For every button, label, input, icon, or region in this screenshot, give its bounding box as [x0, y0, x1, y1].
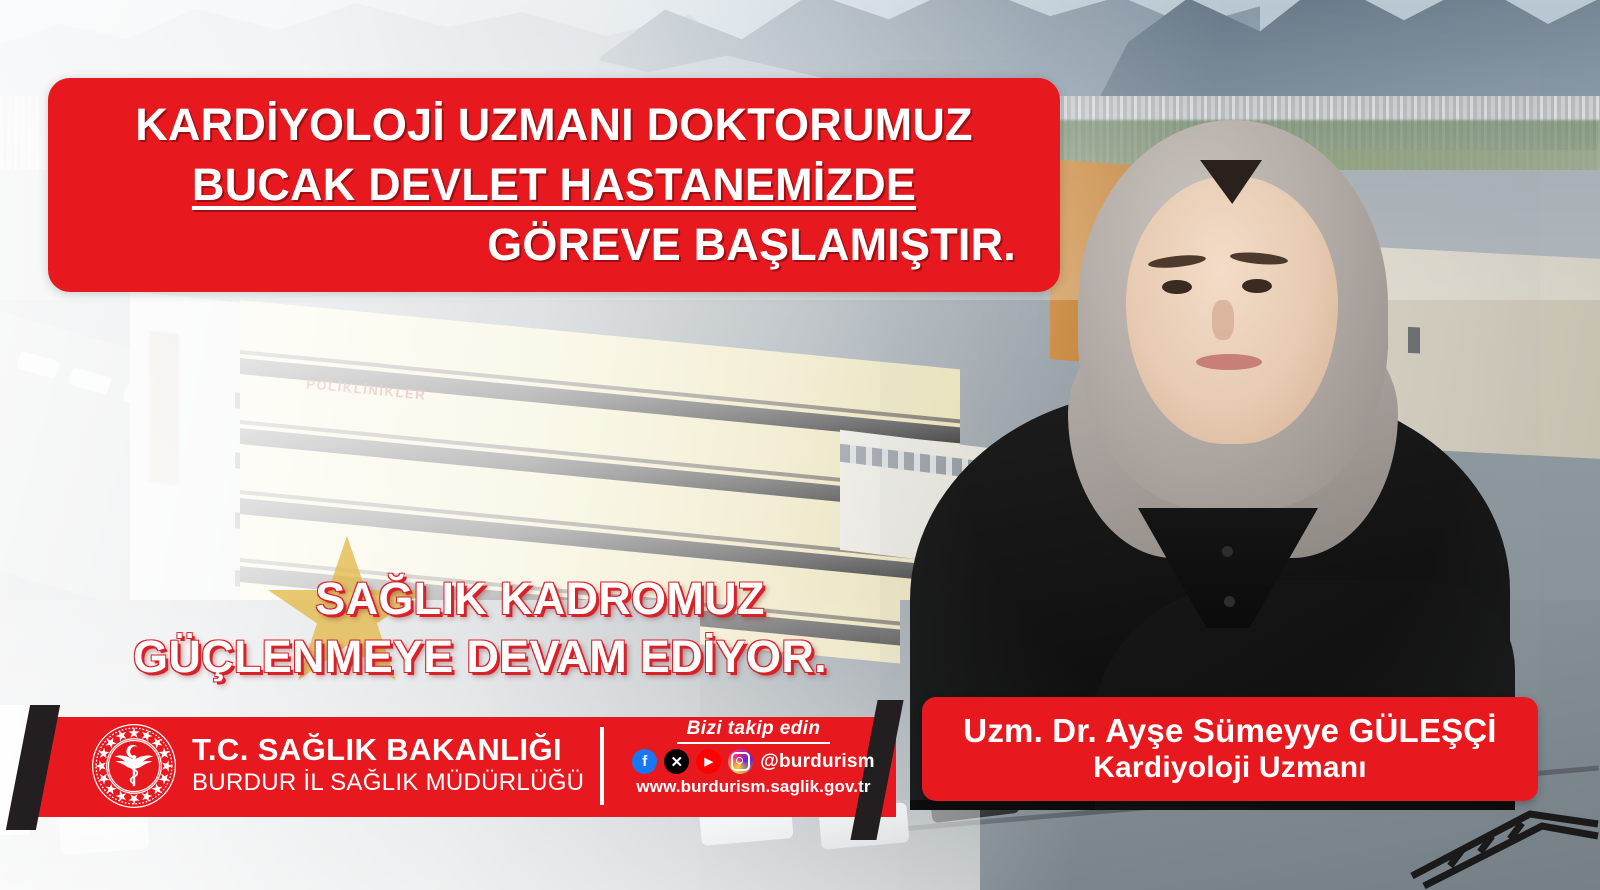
- social-handle[interactable]: @burdurism: [760, 751, 874, 773]
- portrait-button: [1222, 546, 1233, 557]
- doctor-name-banner: Uzm. Dr. Ayşe Sümeyye GÜLEŞÇİ Kardiyoloj…: [922, 697, 1538, 801]
- doctor-name: Uzm. Dr. Ayşe Sümeyye GÜLEŞÇİ: [963, 712, 1496, 750]
- ministry-brand: T.C. SAĞLIK BAKANLIĞI BURDUR İL SAĞLIK M…: [90, 722, 584, 810]
- x-twitter-icon[interactable]: ✕: [664, 749, 689, 774]
- slogan-line-2: GÜÇLENMEYE DEVAM EDİYOR.: [60, 628, 900, 686]
- website-url[interactable]: www.burdurism.saglik.gov.tr: [626, 777, 881, 797]
- instagram-icon[interactable]: [728, 749, 753, 774]
- headline-line-1: KARDİYOLOJİ UZMANI DOKTORUMUZ: [48, 95, 1060, 155]
- doctor-title: Kardiyoloji Uzmanı: [1093, 750, 1367, 786]
- footer-divider: [600, 727, 604, 805]
- slogan-line-1: SAĞLIK KADROMUZ: [60, 570, 900, 628]
- social-block: Bizi takip edin f ✕ ▶ @burdurism www.bur…: [626, 718, 881, 797]
- follow-label: Bizi takip edin: [677, 718, 831, 744]
- ministry-name: T.C. SAĞLIK BAKANLIĞI: [192, 734, 584, 767]
- poster-canvas: POLİKLİNİKLER: [0, 0, 1600, 890]
- youtube-icon[interactable]: ▶: [696, 749, 721, 774]
- facebook-icon[interactable]: f: [632, 749, 657, 774]
- instagram-glyph: [731, 752, 750, 771]
- portrait-nose: [1212, 300, 1234, 340]
- ministry-brand-text: T.C. SAĞLIK BAKANLIĞI BURDUR İL SAĞLIK M…: [192, 734, 584, 798]
- portrait-mouth: [1196, 354, 1262, 370]
- directorate-name: BURDUR İL SAĞLIK MÜDÜRLÜĞÜ: [192, 769, 584, 798]
- ministry-seal-icon: [90, 722, 178, 810]
- portrait-eye-right: [1242, 279, 1272, 293]
- portrait-eye-left: [1162, 280, 1192, 294]
- portrait-button: [1224, 596, 1235, 607]
- headline-line-3: GÖREVE BAŞLAMIŞTIR.: [48, 215, 1060, 275]
- headline-banner: KARDİYOLOJİ UZMANI DOKTORUMUZ BUCAK DEVL…: [48, 78, 1060, 292]
- social-icon-row: f ✕ ▶ @burdurism: [626, 749, 881, 774]
- headline-line-2: BUCAK DEVLET HASTANEMİZDE: [48, 155, 1060, 215]
- slogan-text: SAĞLIK KADROMUZ GÜÇLENMEYE DEVAM EDİYOR.: [60, 570, 900, 685]
